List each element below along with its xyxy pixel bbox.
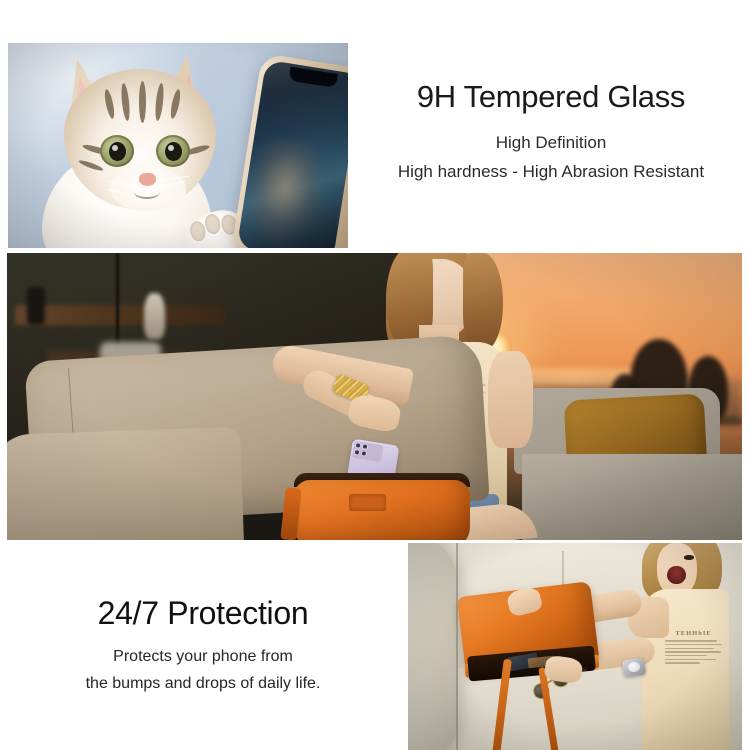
- tempered-glass-subtitle-2: High hardness - High Abrasion Resistant: [360, 162, 742, 182]
- cat-eye-left: [100, 135, 134, 167]
- cat-eye-right: [156, 135, 190, 167]
- tempered-glass-heading: 9H Tempered Glass: [360, 78, 742, 115]
- sofa-arm: [408, 543, 458, 750]
- watch-face: [628, 661, 641, 672]
- camera-lens: [362, 445, 367, 450]
- wristwatch: [622, 657, 646, 676]
- cat-pupil: [109, 142, 126, 161]
- phone-camera-module: [351, 441, 382, 462]
- bag-spill-photo: TEHHbIE: [408, 543, 742, 750]
- jar-decor: [27, 287, 45, 324]
- protection-subtitle-2: the bumps and drops of daily life.: [18, 675, 388, 693]
- phone-screen: [237, 60, 348, 248]
- woman-arm-right: [488, 351, 532, 449]
- sofa-sunset-photo: [7, 253, 742, 540]
- cat-pupil: [165, 142, 182, 161]
- tempered-glass-text-block: 9H Tempered Glass High Definition High h…: [360, 78, 742, 182]
- camera-lens: [355, 444, 360, 449]
- woman-eye: [684, 555, 694, 559]
- sofa-arm-seam: [456, 543, 458, 750]
- camera-lens: [354, 450, 359, 455]
- cat-toe: [203, 213, 222, 236]
- shelf: [15, 305, 225, 325]
- vase-decor: [144, 293, 164, 339]
- tempered-glass-subtitle-1: High Definition: [360, 133, 742, 153]
- woman-hair-front-right: [463, 253, 503, 351]
- cat-phone-photo: [8, 43, 348, 248]
- handbag-label-patch: [349, 494, 386, 511]
- camera-lens: [361, 452, 366, 457]
- protection-text-block: 24/7 Protection Protects your phone from…: [18, 595, 388, 693]
- protection-heading: 24/7 Protection: [18, 595, 388, 632]
- shirt-printed-text: [665, 640, 722, 677]
- smartphone: [231, 53, 348, 248]
- shirt-brand-text: TEHHbIE: [669, 630, 719, 637]
- lamp-stand: [116, 253, 119, 351]
- sofa-seat-right: [522, 454, 743, 540]
- sofa-arm: [7, 427, 244, 540]
- protection-subtitle-1: Protects your phone from: [18, 648, 388, 666]
- cat-stripe: [139, 81, 146, 123]
- woman-open-mouth: [667, 566, 686, 585]
